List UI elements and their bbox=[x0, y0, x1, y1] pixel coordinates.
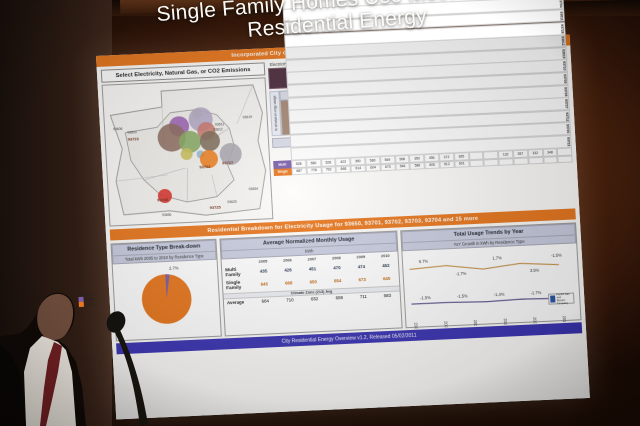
logo-line-2: Electric Company bbox=[557, 298, 573, 305]
trend-point-label: -1.7% bbox=[456, 271, 467, 276]
trends-svg: 5.7%-1.7%1.7%3.5%-1.5%-1.5%-1.5%-1.4%-1.… bbox=[402, 244, 580, 330]
monthly-value: 452 bbox=[373, 259, 398, 273]
zip-usage-table: 9372293720937119372793726937059371093619… bbox=[272, 135, 572, 176]
zip-table-cell: 792 bbox=[321, 166, 336, 174]
monthly-row-label: Single Family bbox=[223, 278, 253, 292]
dashboard-top-region: Select Electricity, Natural Gas, or CO2 … bbox=[97, 46, 579, 227]
map-zip-label: 93611 bbox=[215, 122, 224, 126]
average-value: 684 bbox=[253, 297, 278, 306]
monthly-value: 650 bbox=[301, 275, 326, 289]
monthly-value: 645 bbox=[252, 277, 277, 291]
average-value: 698 bbox=[327, 293, 352, 302]
usage-trends-panel: Total Usage Trends by Year YoY Growth in… bbox=[400, 223, 581, 329]
monthly-value: 451 bbox=[300, 262, 325, 276]
map-zip-label: 93619 bbox=[243, 115, 253, 119]
zip-table-cell: 778 bbox=[306, 166, 321, 174]
pge-logo: Pacific Gas and Electric Company bbox=[548, 293, 575, 305]
microphone bbox=[96, 306, 156, 426]
trend-point-label: 5.7% bbox=[419, 259, 429, 264]
trend-point-label: 3.5% bbox=[530, 268, 540, 273]
zip-table-cell bbox=[543, 156, 558, 164]
zip-table-cell: 604 bbox=[365, 164, 380, 172]
average-label: Average bbox=[224, 298, 253, 307]
map-zip-label: 93656 bbox=[162, 213, 172, 217]
monthly-value: 654 bbox=[325, 274, 350, 288]
map-column: Select Electricity, Natural Gas, or CO2 … bbox=[101, 63, 274, 227]
zip-table-cell: 606 bbox=[425, 161, 440, 169]
bottom-panels: Residence Type Break-down Total kWh 2005… bbox=[107, 222, 586, 341]
trend-point-label: -1.7% bbox=[530, 290, 541, 295]
zip-table-cell bbox=[469, 159, 484, 167]
zip-chart-column: Electricity Usage Click on a Zip Code on… bbox=[268, 49, 573, 176]
trends-chart[interactable]: 5.7%-1.7%1.7%3.5%-1.5%-1.5%-1.5%-1.4%-1.… bbox=[402, 244, 580, 328]
map-zip-label: 93706 bbox=[157, 197, 168, 202]
trend-point-label: -1.4% bbox=[494, 292, 505, 297]
average-value: 711 bbox=[351, 292, 375, 301]
zip-table-cell: 614 bbox=[351, 164, 366, 172]
projection-screen: Incorporated City of FRESNO Residential … bbox=[96, 34, 590, 419]
photo-of-projected-slide: Incorporated City of FRESNO Residential … bbox=[0, 0, 640, 426]
map-zip-label: 93612 bbox=[213, 127, 223, 131]
monthly-row-label: Multi Family bbox=[222, 265, 252, 279]
monthly-usage-panel: Average Normalized Monthly Usage kWh 200… bbox=[219, 231, 402, 337]
map-zip-label: 93725 bbox=[209, 204, 220, 209]
zip-table-cell: 673 bbox=[380, 163, 395, 171]
zip-table-cell: 512 bbox=[439, 160, 454, 168]
monthly-value: 470 bbox=[324, 261, 349, 275]
trend-point-label: -1.5% bbox=[551, 252, 562, 257]
zip-table-cell bbox=[528, 156, 543, 164]
pie-label-single: 97.3% bbox=[164, 330, 176, 336]
zip-table-cell bbox=[558, 155, 573, 163]
map-outline-svg bbox=[103, 78, 273, 225]
zip-table-cell: 848 bbox=[336, 165, 351, 173]
map-zip-label: 93603 bbox=[127, 130, 137, 134]
trend-point-label: -1.5% bbox=[420, 295, 431, 300]
map-zip-label: 93625 bbox=[227, 200, 237, 204]
fresno-zip-map[interactable]: 9372393606936039361193612936199370293727… bbox=[102, 77, 274, 226]
zip-table-cell bbox=[499, 158, 514, 166]
zip-header-spacer bbox=[272, 148, 291, 162]
trend-point-label: 1.7% bbox=[492, 255, 502, 260]
zip-row-label: Single bbox=[274, 168, 292, 176]
monthly-value: 426 bbox=[275, 263, 300, 277]
average-value: 710 bbox=[277, 295, 302, 304]
zip-table-cell: 601 bbox=[454, 160, 469, 168]
zip-table-cell: 586 bbox=[410, 162, 425, 170]
average-value: 683 bbox=[375, 291, 400, 300]
pie-label-multi: 2.7% bbox=[169, 266, 179, 271]
wall-column bbox=[34, 0, 60, 300]
zip-table-cell: 546 bbox=[395, 162, 410, 170]
map-zip-label: 93654 bbox=[249, 187, 259, 191]
monthly-value: 668 bbox=[276, 276, 301, 290]
map-zip-label: 93727 bbox=[222, 160, 233, 165]
monthly-value: 645 bbox=[374, 272, 399, 286]
map-zip-label: 93606 bbox=[113, 127, 123, 131]
dashboard: Incorporated City of FRESNO Residential … bbox=[96, 34, 590, 419]
zip-table-cell: 687 bbox=[292, 167, 307, 175]
monthly-value: 435 bbox=[251, 264, 276, 278]
zip-table-cell bbox=[484, 158, 499, 166]
zip-table-cell bbox=[513, 157, 528, 165]
map-zip-label: 93702 bbox=[199, 164, 210, 169]
trend-point-label: -1.5% bbox=[457, 294, 468, 299]
average-value: 652 bbox=[302, 294, 327, 303]
trend-year-label: 2005 bbox=[414, 322, 420, 329]
logo-mark bbox=[550, 296, 556, 303]
map-zip-label: 93723 bbox=[128, 136, 139, 141]
monthly-value: 673 bbox=[350, 273, 375, 287]
monthly-value: 474 bbox=[349, 260, 374, 274]
